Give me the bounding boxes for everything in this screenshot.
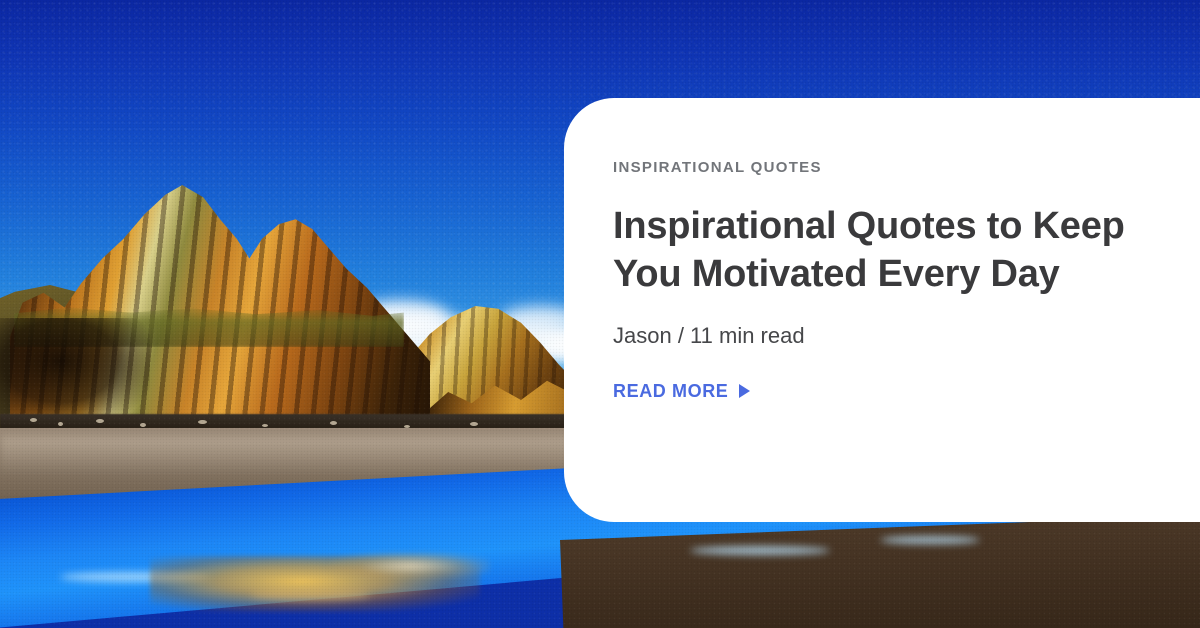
- read-more-label: READ MORE: [613, 381, 728, 402]
- read-more-button[interactable]: READ MORE: [613, 381, 750, 402]
- rock-shadow: [0, 318, 150, 426]
- debris-speck: [30, 418, 37, 422]
- page-title: Inspirational Quotes to Keep You Motivat…: [613, 203, 1143, 299]
- social-share-card: INSPIRATIONAL QUOTES Inspirational Quote…: [0, 0, 1200, 628]
- water-foam: [690, 546, 830, 555]
- debris-speck: [96, 419, 104, 423]
- category-label: INSPIRATIONAL QUOTES: [613, 160, 1200, 175]
- debris-speck: [470, 422, 478, 426]
- rock-reflection-secondary: [330, 552, 490, 580]
- play-caret-icon: [739, 384, 750, 398]
- debris-speck: [140, 423, 146, 427]
- debris-speck: [262, 424, 268, 427]
- debris-speck: [58, 422, 63, 426]
- byline: Jason / 11 min read: [613, 325, 1200, 347]
- article-card: INSPIRATIONAL QUOTES Inspirational Quote…: [564, 98, 1200, 522]
- debris-speck: [198, 420, 207, 424]
- water-foam: [880, 536, 980, 544]
- debris-speck: [330, 421, 337, 425]
